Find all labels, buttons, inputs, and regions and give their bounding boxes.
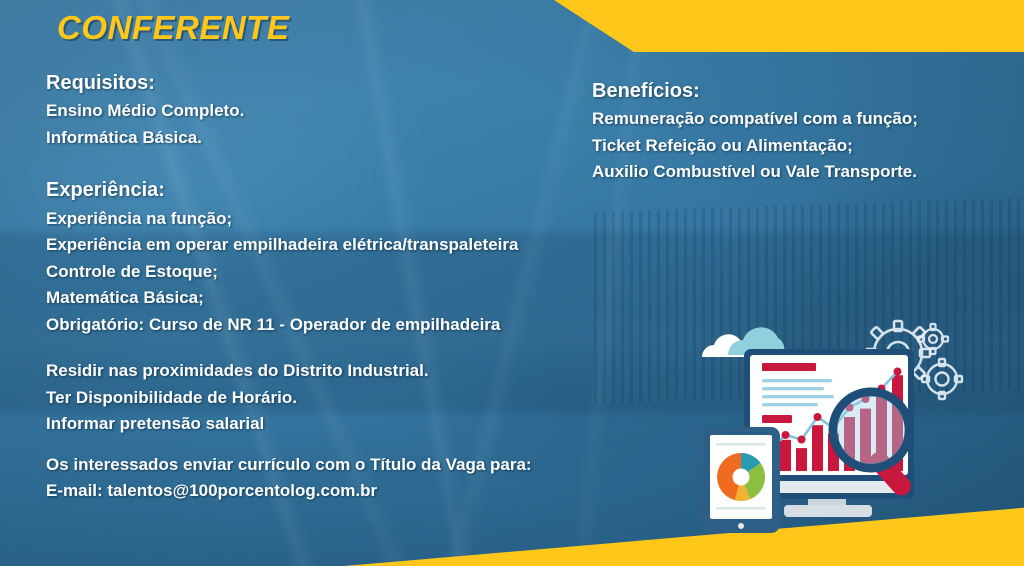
right-content-column: Benefícios: Remuneração compatível com a… [592, 78, 1012, 186]
requisitos-item: Informática Básica. [46, 125, 646, 152]
condicoes-item: Ter Disponibilidade de Horário. [46, 385, 646, 412]
pie-chart [717, 453, 765, 501]
condicoes-item: Residir nas proximidades do Distrito Ind… [46, 358, 646, 385]
experiencia-item: Controle de Estoque; [46, 259, 646, 286]
spacer [46, 151, 646, 177]
experiencia-item: Experiência na função; [46, 206, 646, 233]
gear-icon-medium [922, 359, 962, 399]
beneficios-item: Remuneração compatível com a função; [592, 106, 1012, 133]
spacer [46, 338, 646, 358]
experiencia-heading: Experiência: [46, 177, 646, 203]
requisitos-item: Ensino Médio Completo. [46, 98, 646, 125]
beneficios-item: Auxilio Combustível ou Vale Transporte. [592, 159, 1012, 186]
analytics-illustration [688, 305, 988, 535]
experiencia-item: Matemática Básica; [46, 285, 646, 312]
requisitos-heading: Requisitos: [46, 70, 646, 96]
page-title: CONFERENTE [57, 9, 289, 47]
beneficios-item: Ticket Refeição ou Alimentação; [592, 133, 1012, 160]
experiencia-item: Obrigatório: Curso de NR 11 - Operador d… [46, 312, 646, 339]
beneficios-heading: Benefícios: [592, 78, 1012, 104]
tablet-illustration [702, 427, 780, 533]
spacer [46, 438, 646, 452]
condicoes-item: Informar pretensão salarial [46, 411, 646, 438]
contato-instruction: Os interessados enviar currículo com o T… [46, 452, 646, 479]
left-content-column: Requisitos: Ensino Médio Completo. Infor… [46, 70, 646, 505]
contato-email[interactable]: E-mail: talentos@100porcentolog.com.br [46, 478, 646, 505]
experiencia-item: Experiência em operar empilhadeira elétr… [46, 232, 646, 259]
job-poster: CONFERENTE Requisitos: Ensino Médio Comp… [0, 0, 1024, 566]
